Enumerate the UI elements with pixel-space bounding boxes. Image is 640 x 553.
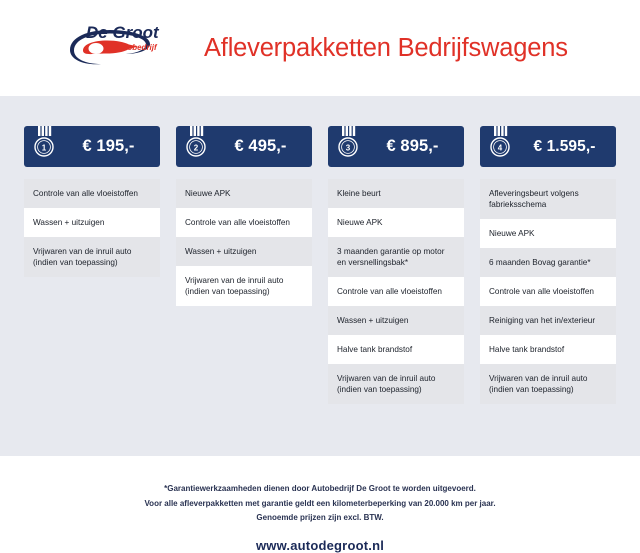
package-item: Vrijwaren van de inruil auto(indien van …: [480, 364, 616, 404]
package-item: Reiniging van het in/exterieur: [480, 306, 616, 335]
package-item-line: Controle van alle vloeistoffen: [489, 286, 608, 297]
de-groot-autobedrijf-logo: De Groot Autobedrijf: [26, 20, 178, 76]
package-item: Controle van alle vloeistoffen: [480, 277, 616, 306]
package-price-3: € 895,-: [365, 137, 464, 156]
package-item: Wassen + uitzuigen: [176, 237, 312, 266]
medal-4-icon: 4: [485, 126, 515, 167]
footnote-line-2: Voor alle afleverpakketten met garantie …: [0, 497, 640, 512]
packages-section: 1 € 195,- Controle van alle vloeistoffen…: [0, 96, 640, 456]
package-item-line: Vrijwaren van de inruil auto: [337, 373, 456, 384]
logo-artwork: De Groot Autobedrijf: [26, 20, 178, 76]
package-item-line: en versnellingsbak*: [337, 257, 456, 268]
footnote-line-3: Genoemde prijzen zijn excl. BTW.: [0, 511, 640, 526]
package-item: Halve tank brandstof: [480, 335, 616, 364]
medal-1-icon: 1: [29, 126, 59, 167]
package-item: Controle van alle vloeistoffen: [328, 277, 464, 306]
package-header-1: 1 € 195,-: [24, 126, 160, 167]
package-item: Vrijwaren van de inruil auto(indien van …: [176, 266, 312, 306]
package-price-2: € 495,-: [213, 137, 312, 156]
page-title: Afleverpakketten Bedrijfswagens: [204, 34, 568, 63]
package-card-1: 1 € 195,- Controle van alle vloeistoffen…: [24, 126, 160, 404]
package-card-2: 2 € 495,- Nieuwe APKControle van alle vl…: [176, 126, 312, 404]
package-item: Vrijwaren van de inruil auto(indien van …: [328, 364, 464, 404]
footnote-line-1: *Garantiewerkzaamheden dienen door Autob…: [0, 482, 640, 497]
package-item-line: Controle van alle vloeistoffen: [337, 286, 456, 297]
logo-subtext: Autobedrijf: [113, 43, 158, 52]
package-item: Kleine beurt: [328, 179, 464, 208]
package-price-1: € 195,-: [61, 137, 160, 156]
package-item-line: (indien van toepassing): [489, 384, 608, 395]
package-card-3: 3 € 895,- Kleine beurtNieuwe APK3 maande…: [328, 126, 464, 404]
package-item-line: Vrijwaren van de inruil auto: [33, 246, 152, 257]
medal-3-icon: 3: [333, 126, 363, 167]
poster-root: De Groot Autobedrijf Afleverpakketten Be…: [0, 0, 640, 480]
package-item: Controle van alle vloeistoffen: [176, 208, 312, 237]
medal-number-2: 2: [194, 143, 199, 152]
package-item: Controle van alle vloeistoffen: [24, 179, 160, 208]
header-bar: De Groot Autobedrijf Afleverpakketten Be…: [0, 0, 640, 96]
package-item: Wassen + uitzuigen: [24, 208, 160, 237]
package-card-4: 4 € 1.595,- Afleveringsbeurt volgensfabr…: [480, 126, 616, 404]
package-item-line: (indien van toepassing): [185, 286, 304, 297]
package-items-3: Kleine beurtNieuwe APK3 maanden garantie…: [328, 179, 464, 404]
medal-number-3: 3: [346, 143, 351, 152]
package-item-line: Kleine beurt: [337, 188, 456, 199]
logo-wordmark: De Groot: [86, 23, 160, 42]
medal-2-icon: 2: [181, 126, 211, 167]
medal-number-1: 1: [42, 143, 47, 152]
package-item-line: Wassen + uitzuigen: [33, 217, 152, 228]
package-item-line: Nieuwe APK: [185, 188, 304, 199]
package-item: 6 maanden Bovag garantie*: [480, 248, 616, 277]
package-item-line: Afleveringsbeurt volgens: [489, 188, 608, 199]
website-link[interactable]: www.autodegroot.nl: [0, 538, 640, 553]
package-item-line: Nieuwe APK: [489, 228, 608, 239]
package-item: Nieuwe APK: [176, 179, 312, 208]
package-items-1: Controle van alle vloeistoffenWassen + u…: [24, 179, 160, 277]
package-item: 3 maanden garantie op motoren versnellin…: [328, 237, 464, 277]
package-item: Vrijwaren van de inruil auto(indien van …: [24, 237, 160, 277]
medal-number-4: 4: [498, 143, 503, 152]
package-header-2: 2 € 495,-: [176, 126, 312, 167]
package-item-line: Controle van alle vloeistoffen: [185, 217, 304, 228]
footer: *Garantiewerkzaamheden dienen door Autob…: [0, 482, 640, 553]
package-item: Nieuwe APK: [328, 208, 464, 237]
package-item: Nieuwe APK: [480, 219, 616, 248]
package-items-2: Nieuwe APKControle van alle vloeistoffen…: [176, 179, 312, 306]
package-item-line: Wassen + uitzuigen: [337, 315, 456, 326]
packages-columns: 1 € 195,- Controle van alle vloeistoffen…: [24, 126, 616, 404]
package-price-4: € 1.595,-: [515, 138, 616, 156]
package-item-line: fabrieksschema: [489, 199, 608, 210]
package-item-line: Halve tank brandstof: [337, 344, 456, 355]
package-header-3: 3 € 895,-: [328, 126, 464, 167]
package-item-line: (indien van toepassing): [337, 384, 456, 395]
package-items-4: Afleveringsbeurt volgensfabrieksschemaNi…: [480, 179, 616, 404]
package-header-4: 4 € 1.595,-: [480, 126, 616, 167]
package-item-line: 3 maanden garantie op motor: [337, 246, 456, 257]
package-item-line: Vrijwaren van de inruil auto: [185, 275, 304, 286]
package-item-line: Halve tank brandstof: [489, 344, 608, 355]
bottom-white-band: [0, 456, 640, 480]
package-item-line: Vrijwaren van de inruil auto: [489, 373, 608, 384]
package-item-line: 6 maanden Bovag garantie*: [489, 257, 608, 268]
package-item-line: Wassen + uitzuigen: [185, 246, 304, 257]
package-item: Halve tank brandstof: [328, 335, 464, 364]
package-item: Afleveringsbeurt volgensfabrieksschema: [480, 179, 616, 219]
package-item-line: Reiniging van het in/exterieur: [489, 315, 608, 326]
package-item-line: (indien van toepassing): [33, 257, 152, 268]
package-item-line: Controle van alle vloeistoffen: [33, 188, 152, 199]
package-item: Wassen + uitzuigen: [328, 306, 464, 335]
package-item-line: Nieuwe APK: [337, 217, 456, 228]
